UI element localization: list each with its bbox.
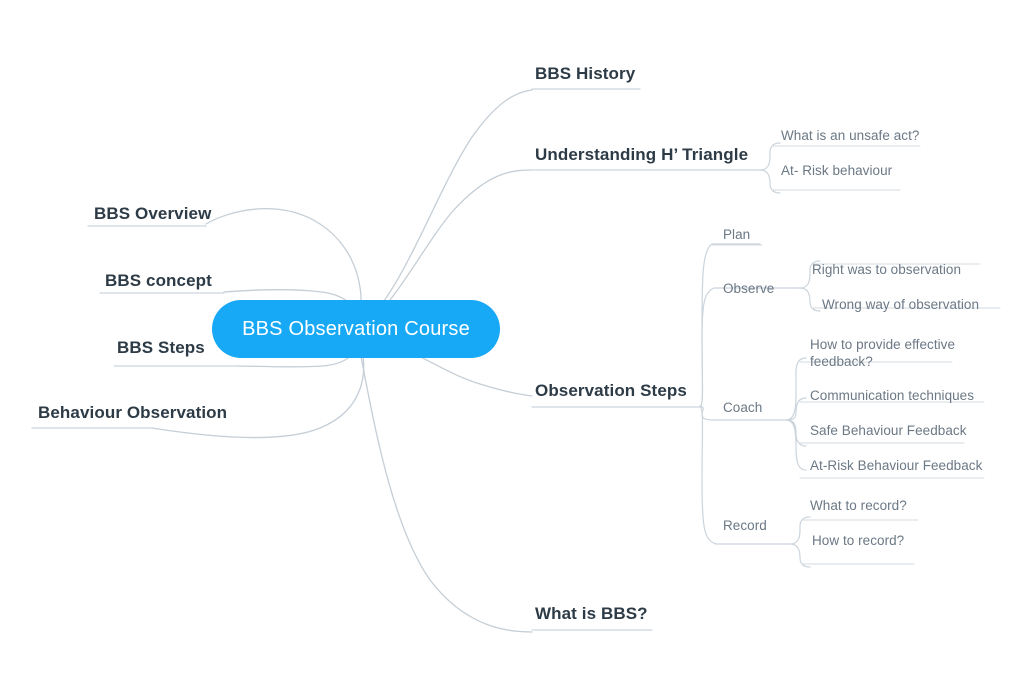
node-bbs-concept[interactable]: BBS concept (105, 271, 212, 291)
node-atrisk-behaviour-feedback[interactable]: At-Risk Behaviour Feedback (810, 458, 982, 473)
node-bbs-steps-label: BBS Steps (117, 338, 205, 357)
mindmap-canvas: BBS Observation Course BBS Overview BBS … (0, 0, 1024, 694)
connector-coach-bracket (786, 358, 806, 470)
node-atrisk-behaviour-feedback-label: At-Risk Behaviour Feedback (810, 458, 982, 473)
node-bbs-overview-label: BBS Overview (94, 204, 211, 223)
node-what-is-unsafe-act-label: What is an unsafe act? (781, 128, 919, 143)
node-record[interactable]: Record (723, 518, 767, 533)
node-right-way-observation-label: Right was to observation (812, 262, 961, 277)
node-how-to-record-label: How to record? (812, 533, 904, 548)
node-observe-label: Observe (723, 281, 774, 296)
node-observe[interactable]: Observe (723, 281, 774, 296)
node-communication-techniques-label: Communication techniques (810, 388, 974, 403)
node-bbs-concept-label: BBS concept (105, 271, 212, 290)
root-node-label: BBS Observation Course (242, 318, 470, 341)
node-effective-feedback[interactable]: How to provide effective feedback? (810, 337, 970, 371)
node-safe-behaviour-feedback-label: Safe Behaviour Feedback (810, 423, 967, 438)
node-bbs-history-label: BBS History (535, 64, 635, 83)
connector-obs-trunk-observe (700, 288, 800, 406)
node-effective-feedback-label: How to provide effective feedback? (810, 337, 955, 369)
node-observation-steps[interactable]: Observation Steps (535, 381, 687, 401)
node-what-to-record-label: What to record? (810, 498, 907, 513)
node-observation-steps-label: Observation Steps (535, 381, 687, 400)
node-coach-label: Coach (723, 400, 762, 415)
node-record-label: Record (723, 518, 767, 533)
node-wrong-way-observation[interactable]: Wrong way of observation (822, 297, 979, 312)
connector-obs-trunk-plan (700, 244, 760, 406)
node-what-is-bbs[interactable]: What is BBS? (535, 604, 648, 624)
node-bbs-history[interactable]: BBS History (535, 64, 635, 84)
node-behaviour-observation[interactable]: Behaviour Observation (38, 403, 227, 423)
connector-record-bracket (790, 517, 810, 567)
node-at-risk-behaviour[interactable]: At- Risk behaviour (781, 163, 892, 178)
node-bbs-steps[interactable]: BBS Steps (117, 338, 205, 358)
node-plan-label: Plan (723, 227, 750, 242)
node-coach[interactable]: Coach (723, 400, 762, 415)
node-right-way-observation[interactable]: Right was to observation (812, 262, 961, 277)
node-what-to-record[interactable]: What to record? (810, 498, 907, 513)
connector-root-what-is-bbs (356, 331, 532, 632)
node-what-is-unsafe-act[interactable]: What is an unsafe act? (781, 128, 919, 143)
node-understanding-triangle-label: Understanding H’ Triangle (535, 145, 748, 164)
node-how-to-record[interactable]: How to record? (812, 533, 904, 548)
connector-root-bbs-history (356, 90, 532, 331)
node-bbs-overview[interactable]: BBS Overview (94, 204, 211, 224)
node-safe-behaviour-feedback[interactable]: Safe Behaviour Feedback (810, 423, 967, 438)
node-what-is-bbs-label: What is BBS? (535, 604, 648, 623)
connector-triangle-bracket (756, 143, 780, 193)
node-communication-techniques[interactable]: Communication techniques (810, 388, 974, 403)
node-behaviour-observation-label: Behaviour Observation (38, 403, 227, 422)
node-plan[interactable]: Plan (723, 227, 750, 242)
node-at-risk-behaviour-label: At- Risk behaviour (781, 163, 892, 178)
node-understanding-triangle[interactable]: Understanding H’ Triangle (535, 145, 748, 165)
root-node[interactable]: BBS Observation Course (212, 300, 500, 358)
node-wrong-way-observation-label: Wrong way of observation (822, 297, 979, 312)
